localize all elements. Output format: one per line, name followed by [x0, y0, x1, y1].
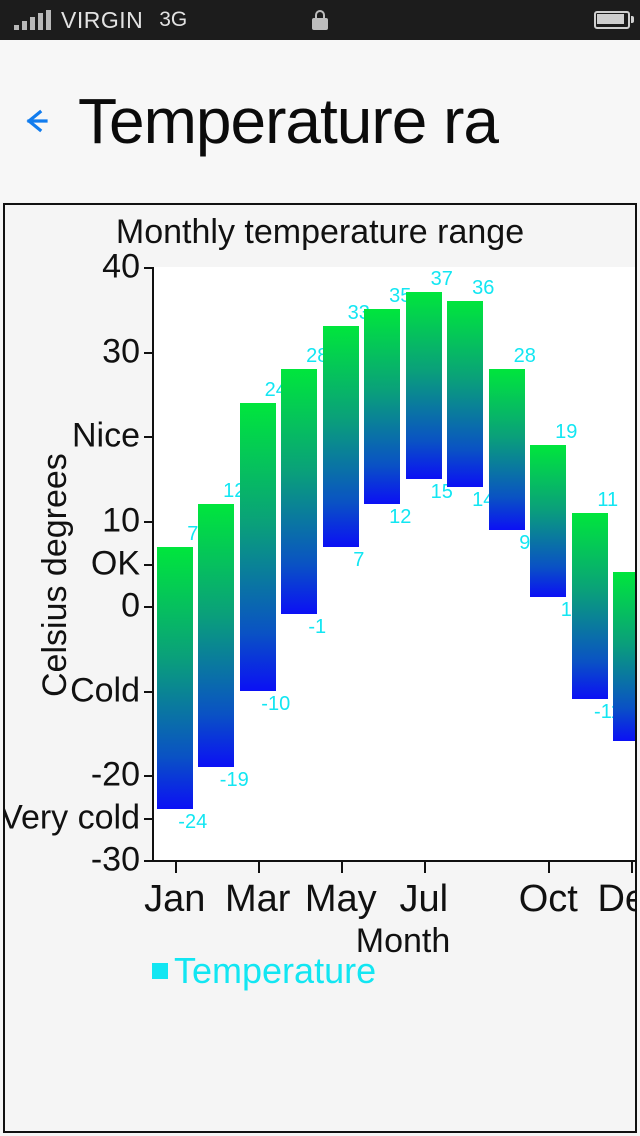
bar-aug[interactable] — [447, 301, 483, 487]
x-axis-tick — [258, 860, 260, 873]
x-axis-tick — [548, 860, 550, 873]
bar-jun[interactable] — [364, 309, 400, 504]
legend-label-temperature: Temperature — [174, 950, 376, 992]
x-axis-label: Mar — [225, 878, 290, 921]
y-axis-tick — [144, 775, 154, 777]
y-axis-label: 0 — [121, 586, 140, 625]
chart-plot-wrapper: 4030Nice10OK0Cold-20Very cold-30Celsius … — [5, 205, 637, 1133]
y-axis-tick — [144, 564, 154, 566]
legend-swatch-temperature — [152, 963, 168, 979]
y-axis-title: Celsius degrees — [36, 453, 75, 697]
y-axis-label: -20 — [91, 756, 140, 795]
y-axis-label: 40 — [102, 248, 140, 287]
plot-area[interactable]: 4030Nice10OK0Cold-20Very cold-30Celsius … — [152, 267, 637, 862]
bar-value-high: 36 — [453, 277, 513, 300]
y-axis-label: OK — [91, 544, 140, 583]
status-bar: VIRGIN 3G — [0, 0, 640, 40]
bar-jan[interactable] — [157, 547, 193, 810]
bar-value-low: -19 — [204, 769, 264, 792]
y-axis-label: Cold — [70, 671, 140, 710]
page-title: Temperature ra — [78, 84, 498, 158]
bar-value-low: -16 — [619, 743, 637, 766]
y-axis-tick — [144, 818, 154, 820]
bar-value-high: 11 — [578, 489, 637, 512]
bar-may[interactable] — [323, 326, 359, 546]
bar-apr[interactable] — [281, 369, 317, 615]
y-axis-tick — [144, 606, 154, 608]
y-axis-label: 30 — [102, 332, 140, 371]
x-axis-label: May — [305, 878, 377, 921]
bar-sep[interactable] — [489, 369, 525, 530]
status-bar-center — [0, 10, 640, 30]
bar-oct[interactable] — [530, 445, 566, 597]
bar-value-low: 12 — [370, 506, 430, 529]
bar-value-low: -10 — [246, 693, 306, 716]
bar-value-high: 4 — [619, 548, 637, 571]
bar-value-low: -1 — [287, 616, 347, 639]
chart-card: Monthly temperature range 4030Nice10OK0C… — [3, 203, 637, 1133]
y-axis-tick — [144, 352, 154, 354]
bar-value-low: 7 — [329, 549, 389, 572]
y-axis-tick — [144, 860, 154, 862]
lock-icon — [312, 10, 328, 30]
bar-mar[interactable] — [240, 403, 276, 691]
y-axis-tick — [144, 267, 154, 269]
back-arrow-icon[interactable] — [12, 95, 64, 147]
bar-jul[interactable] — [406, 292, 442, 478]
chart-legend[interactable]: Temperature — [152, 950, 376, 992]
x-axis-tick — [631, 860, 633, 873]
bar-nov[interactable] — [572, 513, 608, 699]
y-axis-label: -30 — [91, 841, 140, 880]
y-axis-tick — [144, 691, 154, 693]
x-axis-tick — [175, 860, 177, 873]
y-axis-label: Nice — [72, 417, 140, 456]
bar-value-low: -24 — [163, 811, 223, 834]
y-axis-label: 10 — [102, 502, 140, 541]
x-axis-tick — [424, 860, 426, 873]
bar-value-high: 28 — [495, 345, 555, 368]
y-axis-tick — [144, 521, 154, 523]
x-axis-tick — [341, 860, 343, 873]
x-axis-label: Jul — [399, 878, 448, 921]
y-axis-tick — [144, 436, 154, 438]
status-bar-right — [594, 11, 630, 29]
x-axis-label: Jan — [144, 878, 205, 921]
nav-header: Temperature ra — [0, 40, 640, 202]
battery-icon — [594, 11, 630, 29]
bar-feb[interactable] — [198, 504, 234, 767]
y-axis-label: Very cold — [3, 798, 140, 837]
bar-dec[interactable] — [613, 572, 637, 741]
x-axis-label: Dec — [597, 878, 637, 921]
x-axis-label: Oct — [519, 878, 578, 921]
bar-value-high: 19 — [536, 421, 596, 444]
